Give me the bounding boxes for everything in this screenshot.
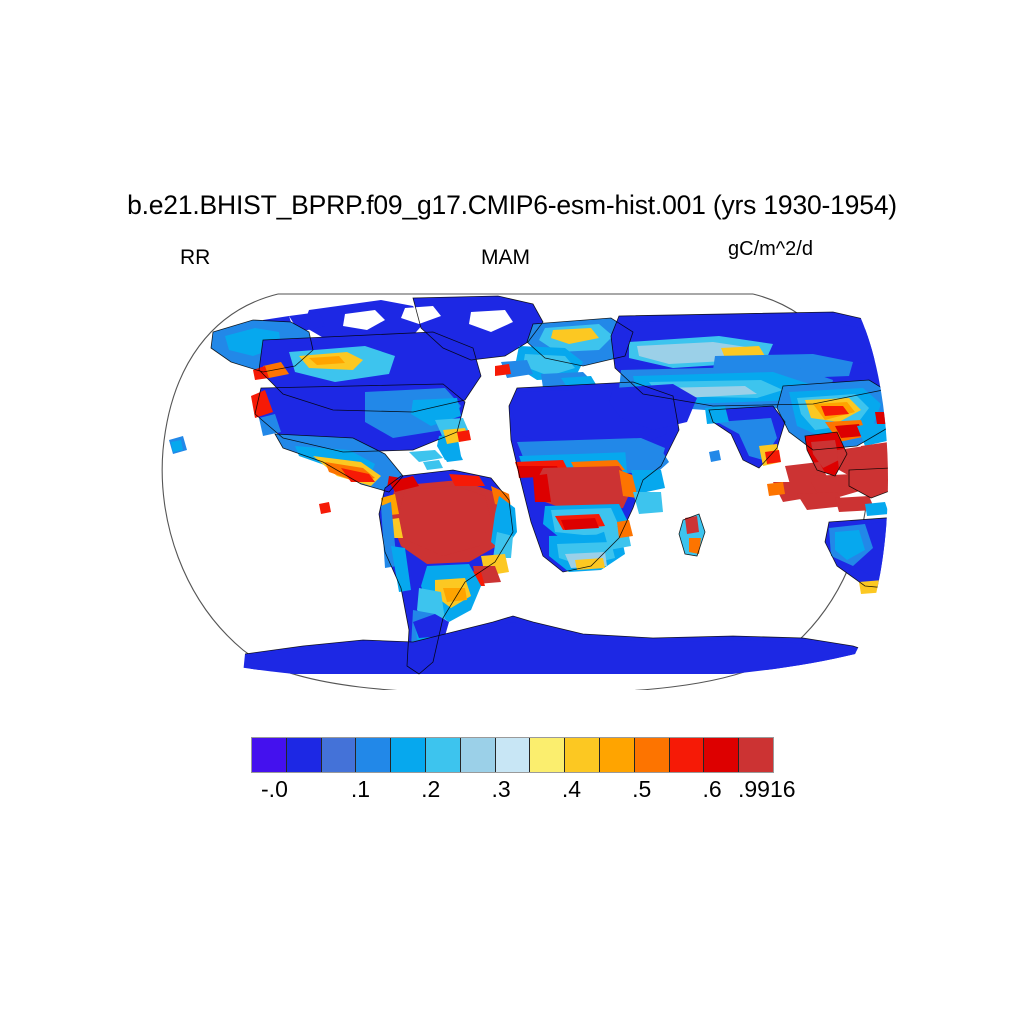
colorbar-labels: -.0.1.2.3.4.5.6.9916	[251, 776, 772, 802]
page-title: b.e21.BHIST_BPRP.f09_g17.CMIP6-esm-hist.…	[0, 190, 1024, 221]
colorbar-tick-label: .6	[702, 776, 721, 803]
colorbar-tick-label: .2	[421, 776, 440, 803]
colorbar-cell	[600, 738, 635, 772]
colorbar-cell	[496, 738, 531, 772]
region-australia-nz	[825, 502, 913, 610]
colorbar-cell	[426, 738, 461, 772]
colorbar-cell	[635, 738, 670, 772]
colorbar-cell	[391, 738, 426, 772]
colorbar-cell	[530, 738, 565, 772]
land-data-layer	[169, 296, 913, 674]
colorbar-tick-label: -.0	[261, 776, 288, 803]
map-svg	[113, 270, 913, 690]
colorbar-cell	[356, 738, 391, 772]
colorbar-tick-label: .9916	[738, 776, 796, 803]
colorbar: -.0.1.2.3.4.5.6.9916	[251, 737, 772, 773]
colorbar-cell	[287, 738, 322, 772]
colorbar-tick-label: .5	[632, 776, 651, 803]
colorbar-tick-label: .3	[491, 776, 510, 803]
colorbar-cell	[670, 738, 705, 772]
map-plot	[113, 270, 913, 690]
figure-canvas: b.e21.BHIST_BPRP.f09_g17.CMIP6-esm-hist.…	[0, 0, 1024, 1024]
colorbar-cell	[739, 738, 773, 772]
colorbar-cell	[322, 738, 357, 772]
season-label: MAM	[481, 246, 530, 270]
colorbar-cell	[704, 738, 739, 772]
colorbar-tick-label: .4	[562, 776, 581, 803]
colorbar-tick-label: .1	[351, 776, 370, 803]
colorbar-cells	[251, 737, 774, 773]
colorbar-cell	[461, 738, 496, 772]
colorbar-cell	[252, 738, 287, 772]
region-antarctica	[243, 614, 883, 674]
region-north-america	[211, 320, 481, 496]
colorbar-cell	[565, 738, 600, 772]
units-label: gC/m^2/d	[728, 238, 813, 261]
region-maritime-continent	[767, 432, 913, 516]
variable-label: RR	[180, 246, 210, 270]
